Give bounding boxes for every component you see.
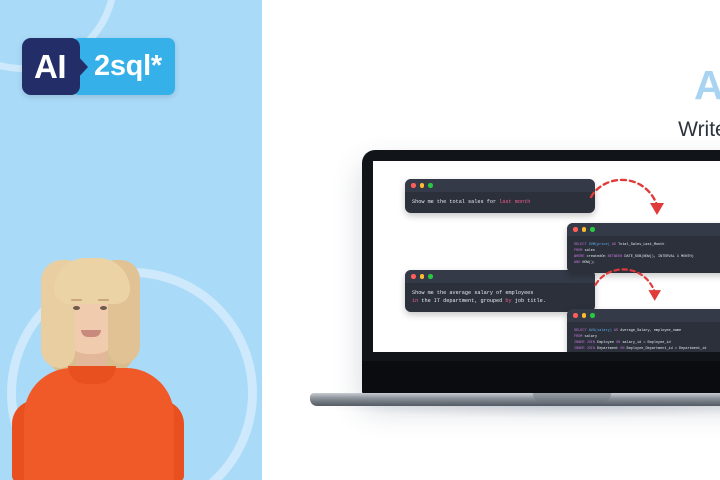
sql-code-text: SELECT AVG(salary) AS Average_Salary, em… [567, 322, 720, 352]
red-traffic-light-icon[interactable] [573, 313, 578, 318]
presenter-torso [24, 368, 174, 480]
green-traffic-light-icon[interactable] [590, 313, 595, 318]
yellow-traffic-light-icon[interactable] [420, 274, 425, 279]
green-traffic-light-icon[interactable] [428, 183, 433, 188]
presenter-eye-left [73, 306, 80, 310]
code-token: INNER JOIN [574, 347, 595, 351]
red-traffic-light-icon[interactable] [573, 227, 578, 232]
code-token: Show me the total sales for [412, 199, 499, 205]
slide-canvas: AI 2sql* AI Write S [0, 0, 720, 480]
code-token: createdOn [585, 255, 608, 259]
green-traffic-light-icon[interactable] [428, 274, 433, 279]
terminal-titlebar [405, 179, 595, 192]
laptop-lid: Show me the total sales for last monthSh… [362, 150, 720, 395]
page-headline: AI [694, 62, 720, 109]
code-token: sales [582, 249, 595, 253]
code-token: SELECT [574, 329, 587, 333]
prompt-text: Show me the total sales for last month [405, 192, 595, 213]
code-token: job title. [512, 298, 546, 304]
green-traffic-light-icon[interactable] [590, 227, 595, 232]
presenter-avatar [8, 250, 198, 480]
code-token: Employee [595, 341, 616, 345]
yellow-traffic-light-icon[interactable] [582, 227, 587, 232]
code-token: SELECT [574, 243, 587, 247]
logo-ai-block: AI [22, 38, 80, 95]
terminal-titlebar [567, 309, 720, 322]
laptop-notch [533, 393, 611, 402]
logo-chevron-icon [76, 54, 88, 80]
code-token: INNER JOIN [574, 341, 595, 345]
code-token: salary [582, 335, 597, 339]
presenter-eyebrow-right [98, 299, 109, 301]
terminal-titlebar [567, 223, 720, 236]
code-token: salary_id = Employee_id [620, 341, 670, 345]
terminal-titlebar [405, 270, 595, 283]
sql-code-terminal: SELECT SUM(price) AS Total_Sales_Last_Mo… [567, 223, 720, 273]
code-token: Average_Salary, employee_name [618, 329, 681, 333]
laptop-chin [362, 361, 720, 395]
red-traffic-light-icon[interactable] [411, 183, 416, 188]
prompt-text: Show me the average salary of employeesi… [405, 283, 595, 312]
code-token: AVG(salary) [587, 329, 614, 333]
laptop-screen: Show me the total sales for last monthSh… [373, 161, 720, 352]
prompt-terminal: Show me the total sales for last month [405, 179, 595, 213]
code-token: NOW(); [580, 261, 595, 265]
prompt-terminal: Show me the average salary of employeesi… [405, 270, 595, 312]
sql-code-terminal: SELECT AVG(salary) AS Average_Salary, em… [567, 309, 720, 352]
code-line: Show me the average salary of employees [412, 289, 588, 297]
sql-code-text: SELECT SUM(price) AS Total_Sales_Last_Mo… [567, 236, 720, 273]
code-token: Department [595, 347, 620, 351]
code-line: Show me the total sales for last month [412, 198, 588, 206]
presenter-eyebrow-left [71, 299, 82, 301]
code-token: the IT department, grouped [418, 298, 505, 304]
ai2sql-logo[interactable]: AI 2sql* [22, 38, 175, 95]
code-token: Show me the average salary of employees [412, 290, 533, 296]
presenter-eye-right [100, 306, 107, 310]
red-traffic-light-icon[interactable] [411, 274, 416, 279]
code-token: last month [499, 199, 530, 205]
laptop-mockup: Show me the total sales for last monthSh… [362, 150, 720, 420]
code-line: in the IT department, grouped by job tit… [412, 297, 588, 305]
code-token: SUM(price) [587, 243, 612, 247]
laptop-shadow [310, 404, 720, 418]
code-token: DATE_SUB(NOW(), INTERVAL 1 MONTH) [622, 255, 693, 259]
logo-sql-text: 2sql* [94, 52, 162, 81]
code-line: AND NOW(); [574, 260, 720, 266]
page-subheadline: Write SQL in [678, 118, 720, 142]
code-token: Employee_Department_id = Department_id [624, 347, 706, 351]
yellow-traffic-light-icon[interactable] [582, 313, 587, 318]
code-token: WHERE [574, 255, 585, 259]
presenter-hair-top [54, 258, 130, 304]
code-token: BETWEEN [608, 255, 623, 259]
yellow-traffic-light-icon[interactable] [420, 183, 425, 188]
logo-ai-text: AI [34, 50, 68, 83]
code-token: Total_Sales_Last_Month [616, 243, 664, 247]
left-brand-panel: AI 2sql* [0, 0, 262, 480]
right-content-panel: AI Write SQL in Show me the total sales … [262, 0, 720, 480]
